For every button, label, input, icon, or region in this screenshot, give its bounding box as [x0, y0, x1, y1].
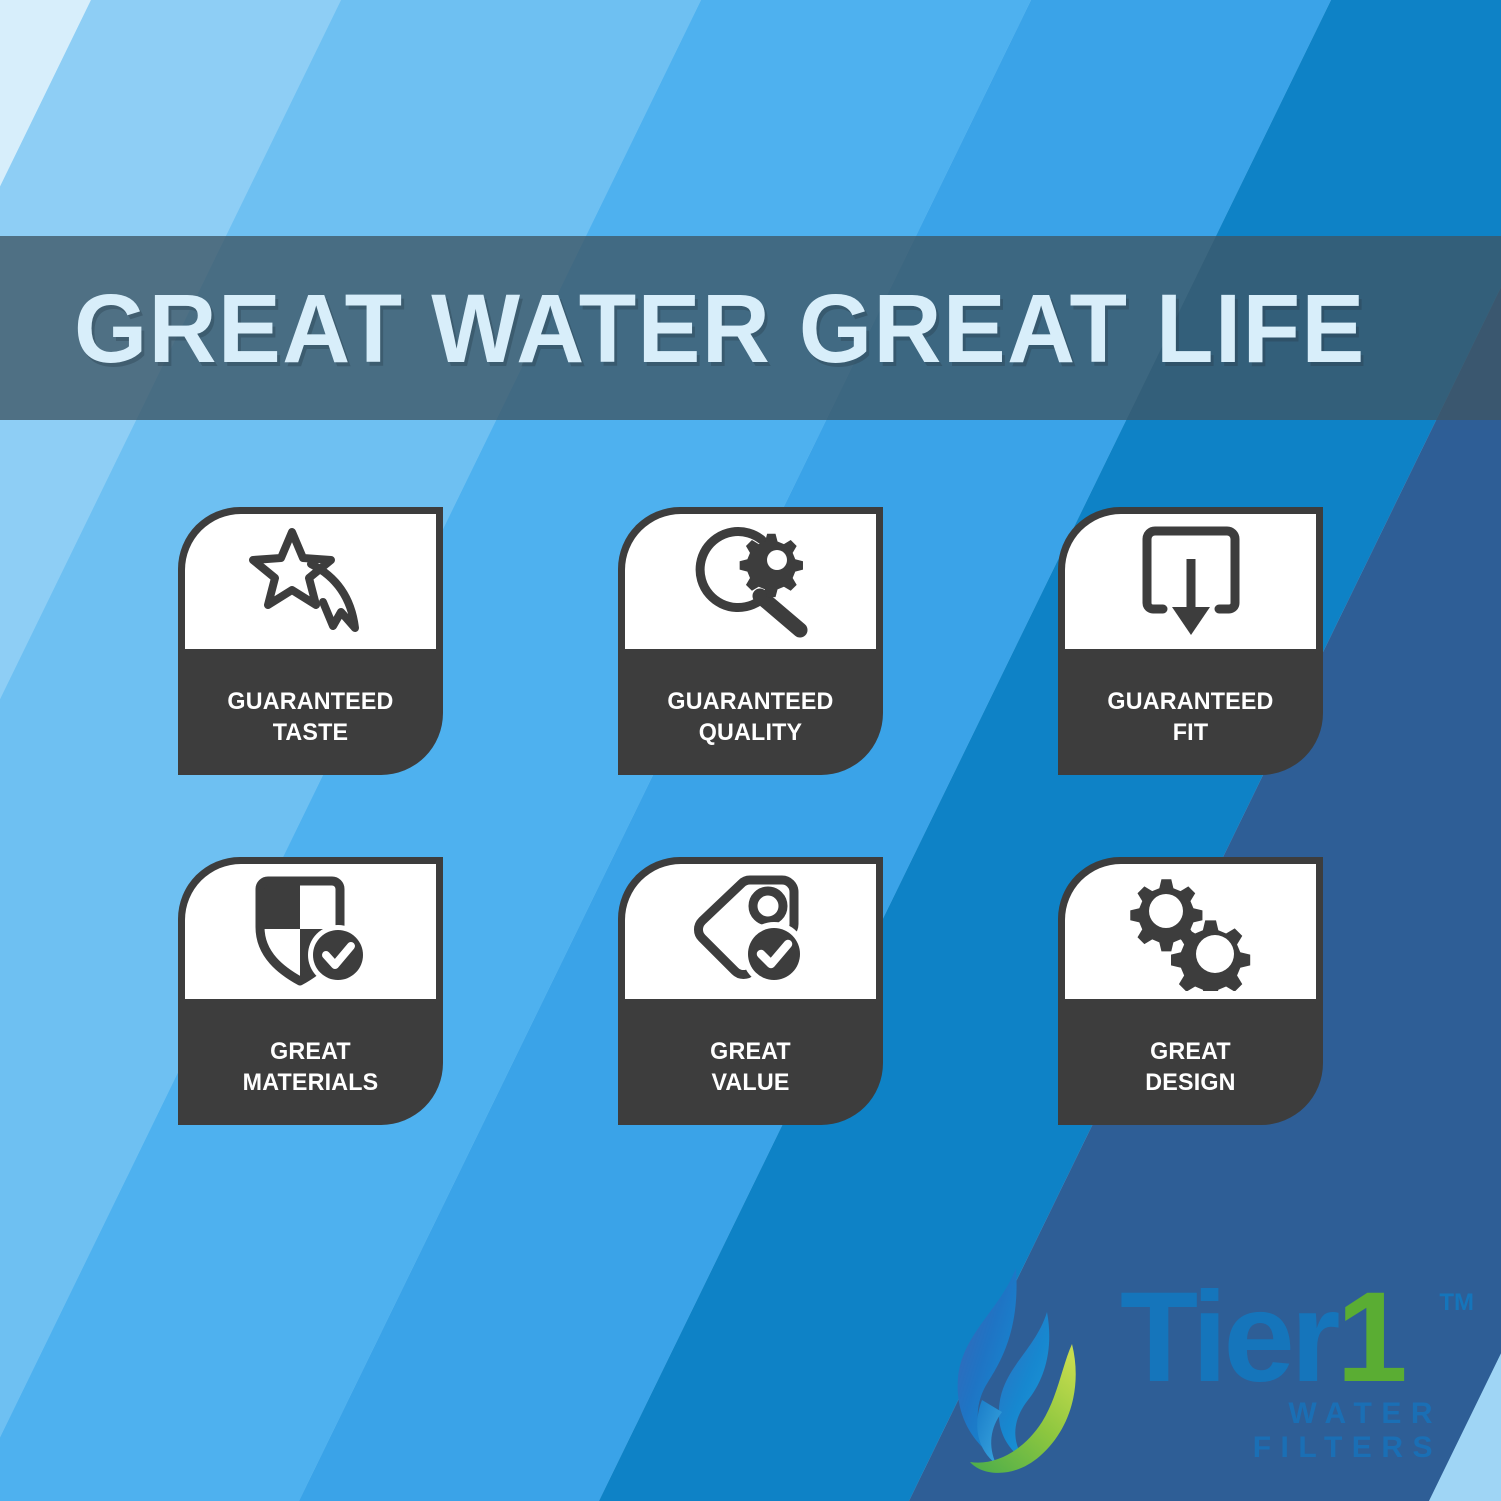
trademark-symbol: TM: [1439, 1289, 1474, 1317]
label-line-1: GREAT: [270, 1038, 351, 1065]
feature-card-label: GREATDESIGN: [1071, 999, 1309, 1125]
feature-card-grid: GUARANTEEDTASTE GUARANTEEDQUALITY: [178, 507, 1346, 1125]
shield-check-icon: [185, 864, 436, 999]
tier1-logo[interactable]: Tier1 TM WATER FILTERS: [952, 1258, 1444, 1490]
headline-banner: GREAT WATER GREAT LIFE: [0, 236, 1501, 420]
feature-card-label: GUARANTEEDTASTE: [191, 649, 429, 775]
logo-word-accent: 1: [1336, 1266, 1403, 1409]
shooting-star-icon: [185, 514, 436, 649]
feature-card-great-design[interactable]: GREATDESIGN: [1058, 857, 1323, 1125]
infographic-canvas: GREAT WATER GREAT LIFE GUARANTEEDTASTE: [0, 0, 1501, 1501]
magnifier-gear-icon: [625, 514, 876, 649]
logo-word: Tier1: [1120, 1283, 1444, 1393]
arrow-into-box-icon: [1065, 514, 1316, 649]
label-line-1: GUARANTEED: [227, 688, 393, 715]
logo-word-primary: Tier: [1120, 1266, 1336, 1409]
gears-icon: [1065, 864, 1316, 999]
label-line-1: GUARANTEED: [667, 688, 833, 715]
label-line-2: DESIGN: [1145, 1069, 1235, 1096]
label-line-2: FIT: [1173, 719, 1208, 746]
page-title: GREAT WATER GREAT LIFE: [74, 280, 1366, 377]
feature-card-great-value[interactable]: GREATVALUE: [618, 857, 883, 1125]
feature-card-great-materials[interactable]: GREATMATERIALS: [178, 857, 443, 1125]
feature-card-label: GUARANTEEDQUALITY: [631, 649, 869, 775]
label-line-2: QUALITY: [699, 719, 802, 746]
label-line-2: VALUE: [711, 1069, 789, 1096]
feature-card-guaranteed-taste[interactable]: GUARANTEEDTASTE: [178, 507, 443, 775]
feature-card-label: GUARANTEEDFIT: [1071, 649, 1309, 775]
feature-card-guaranteed-fit[interactable]: GUARANTEEDFIT: [1058, 507, 1323, 775]
price-tag-check-icon: [625, 864, 876, 999]
feature-card-label: GREATMATERIALS: [191, 999, 429, 1125]
label-line-1: GREAT: [1150, 1038, 1231, 1065]
label-line-1: GUARANTEED: [1107, 688, 1273, 715]
feature-card-guaranteed-quality[interactable]: GUARANTEEDQUALITY: [618, 507, 883, 775]
logo-wordmark: Tier1 TM WATER FILTERS: [1120, 1283, 1444, 1465]
label-line-2: TASTE: [273, 719, 349, 746]
label-line-2: MATERIALS: [243, 1069, 379, 1096]
label-line-1: GREAT: [710, 1038, 791, 1065]
feature-card-label: GREATVALUE: [631, 999, 869, 1125]
water-drop-leaf-logo-mark: [952, 1262, 1104, 1487]
